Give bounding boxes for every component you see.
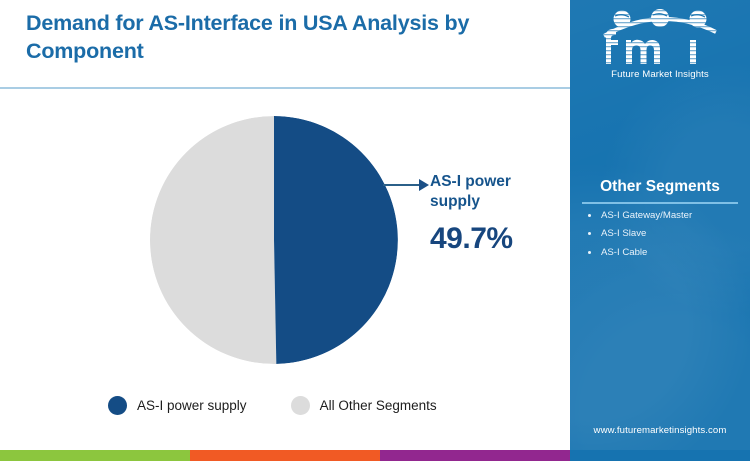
legend-label: All Other Segments bbox=[320, 398, 437, 413]
pie-chart-svg bbox=[150, 116, 398, 364]
legend-swatch-icon bbox=[291, 396, 310, 415]
list-item-label: AS-I Cable bbox=[601, 247, 647, 258]
chart-legend: AS-I power supply All Other Segments bbox=[108, 396, 437, 415]
callout-leader-line bbox=[383, 184, 421, 186]
list-item[interactable]: AS-I Gateway/Master bbox=[584, 210, 746, 222]
logo-letter-i bbox=[690, 40, 696, 64]
website-url[interactable]: www.futuremarketinsights.com bbox=[570, 425, 750, 436]
fmi-logo-mark bbox=[590, 6, 730, 68]
page-title: Demand for AS-Interface in USA Analysis … bbox=[26, 10, 526, 65]
pie-slice-all-other-segments[interactable] bbox=[150, 116, 276, 364]
legend-item-as-i-power-supply[interactable]: AS-I power supply bbox=[108, 396, 247, 415]
legend-label: AS-I power supply bbox=[137, 398, 247, 413]
callout-label: AS-I power supply bbox=[430, 172, 550, 212]
bullet-icon bbox=[588, 251, 591, 254]
infographic-page: Demand for AS-Interface in USA Analysis … bbox=[0, 0, 750, 461]
bullet-icon bbox=[588, 232, 591, 235]
brand-logo[interactable]: Future Market Insights bbox=[570, 6, 750, 80]
logo-letter-f bbox=[606, 29, 618, 64]
bottom-color-bar bbox=[0, 450, 750, 461]
main-content-area: Demand for AS-Interface in USA Analysis … bbox=[0, 0, 570, 450]
legend-swatch-icon bbox=[108, 396, 127, 415]
bullet-icon bbox=[588, 214, 591, 217]
callout-value: 49.7% bbox=[430, 222, 513, 256]
bar-segment-blue bbox=[570, 450, 750, 461]
callout-arrow-icon bbox=[419, 179, 429, 191]
list-item[interactable]: AS-I Slave bbox=[584, 228, 746, 240]
bar-segment-orange bbox=[190, 450, 380, 461]
pie-slice-as-i-power-supply[interactable] bbox=[274, 116, 398, 364]
logo-tagline: Future Market Insights bbox=[570, 69, 750, 80]
other-segments-divider bbox=[582, 202, 738, 204]
logo-letter-m bbox=[626, 40, 660, 64]
bar-segment-green bbox=[0, 450, 190, 461]
list-item-label: AS-I Slave bbox=[601, 228, 646, 239]
list-item[interactable]: AS-I Cable bbox=[584, 247, 746, 259]
bar-segment-purple bbox=[380, 450, 570, 461]
other-segments-list: AS-I Gateway/Master AS-I Slave AS-I Cabl… bbox=[584, 210, 746, 265]
list-item-label: AS-I Gateway/Master bbox=[601, 210, 692, 221]
other-segments-heading: Other Segments bbox=[570, 178, 750, 196]
legend-item-all-other-segments[interactable]: All Other Segments bbox=[291, 396, 437, 415]
title-divider bbox=[0, 87, 570, 89]
side-panel: Future Market Insights Other Segments AS… bbox=[570, 0, 750, 450]
pie-chart bbox=[150, 116, 398, 364]
